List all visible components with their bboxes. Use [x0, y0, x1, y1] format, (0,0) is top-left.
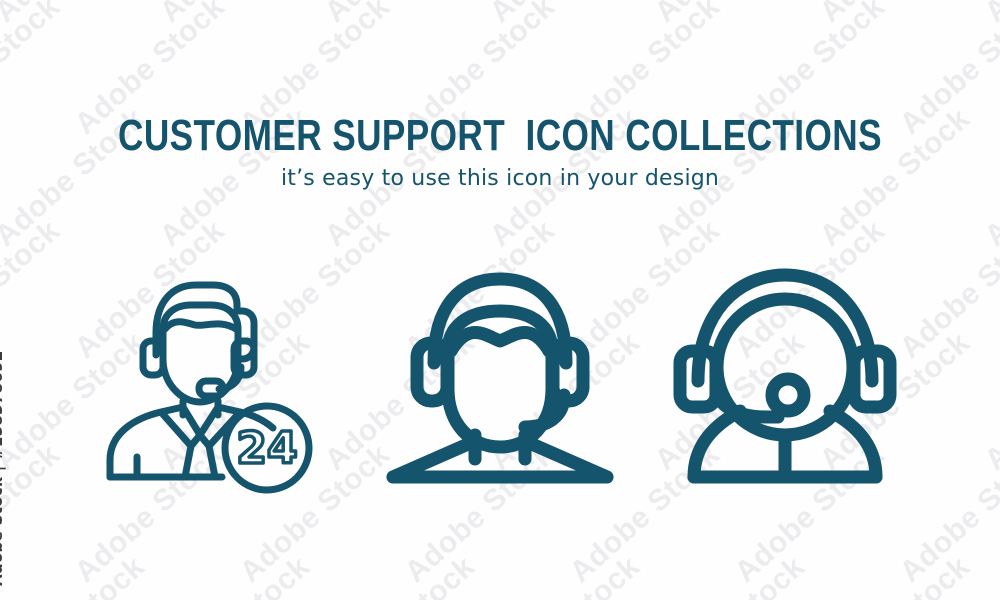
watermark-text: Adobe Stock [154, 0, 317, 30]
watermark-text: Adobe Stock [649, 550, 812, 600]
watermark-text: Adobe Stock [0, 550, 152, 600]
watermark-text: Adobe Stock [979, 0, 1000, 30]
watermark-text: Adobe Stock [319, 0, 482, 30]
agent-collar-v [183, 407, 218, 435]
stock-credit-label: Adobe Stock | #158378692 [0, 350, 6, 586]
operator-fringe [451, 332, 549, 351]
headset-operator-icon[interactable] [375, 255, 625, 495]
headset-mic-capsule [772, 379, 804, 411]
watermark-text: Adobe Stock [319, 550, 482, 600]
watermark-text: Adobe Stock [154, 550, 317, 600]
call-center-headset-icon[interactable] [660, 255, 910, 495]
agent-badge-label: 24 [236, 423, 297, 474]
watermark-text: Adobe Stock [484, 0, 647, 30]
agent-fringe [165, 322, 236, 329]
poster-canvas: Adobe StockAdobe StockAdobe StockAdobe S… [0, 0, 1000, 600]
watermark-text: Adobe Stock [814, 0, 977, 30]
icon-collection-row: 24 [0, 255, 1000, 495]
watermark-text: Adobe Stock [979, 550, 1000, 600]
watermark-text: Adobe Stock [0, 0, 152, 30]
heading-block: CUSTOMER SUPPORT ICON COLLECTIONS it’s e… [0, 112, 1000, 192]
watermark-text: Adobe Stock [814, 550, 977, 600]
agent-shoulder-left [110, 407, 183, 477]
headset-shoulder-right [830, 411, 876, 477]
watermark-text: Adobe Stock [649, 0, 812, 30]
headset-shoulder-left [694, 411, 740, 477]
page-subtitle: it’s easy to use this icon in your desig… [0, 166, 1000, 192]
support-agent-24-icon[interactable]: 24 [95, 255, 345, 495]
page-title: CUSTOMER SUPPORT ICON COLLECTIONS [100, 112, 900, 160]
watermark-text: Adobe Stock [484, 550, 647, 600]
